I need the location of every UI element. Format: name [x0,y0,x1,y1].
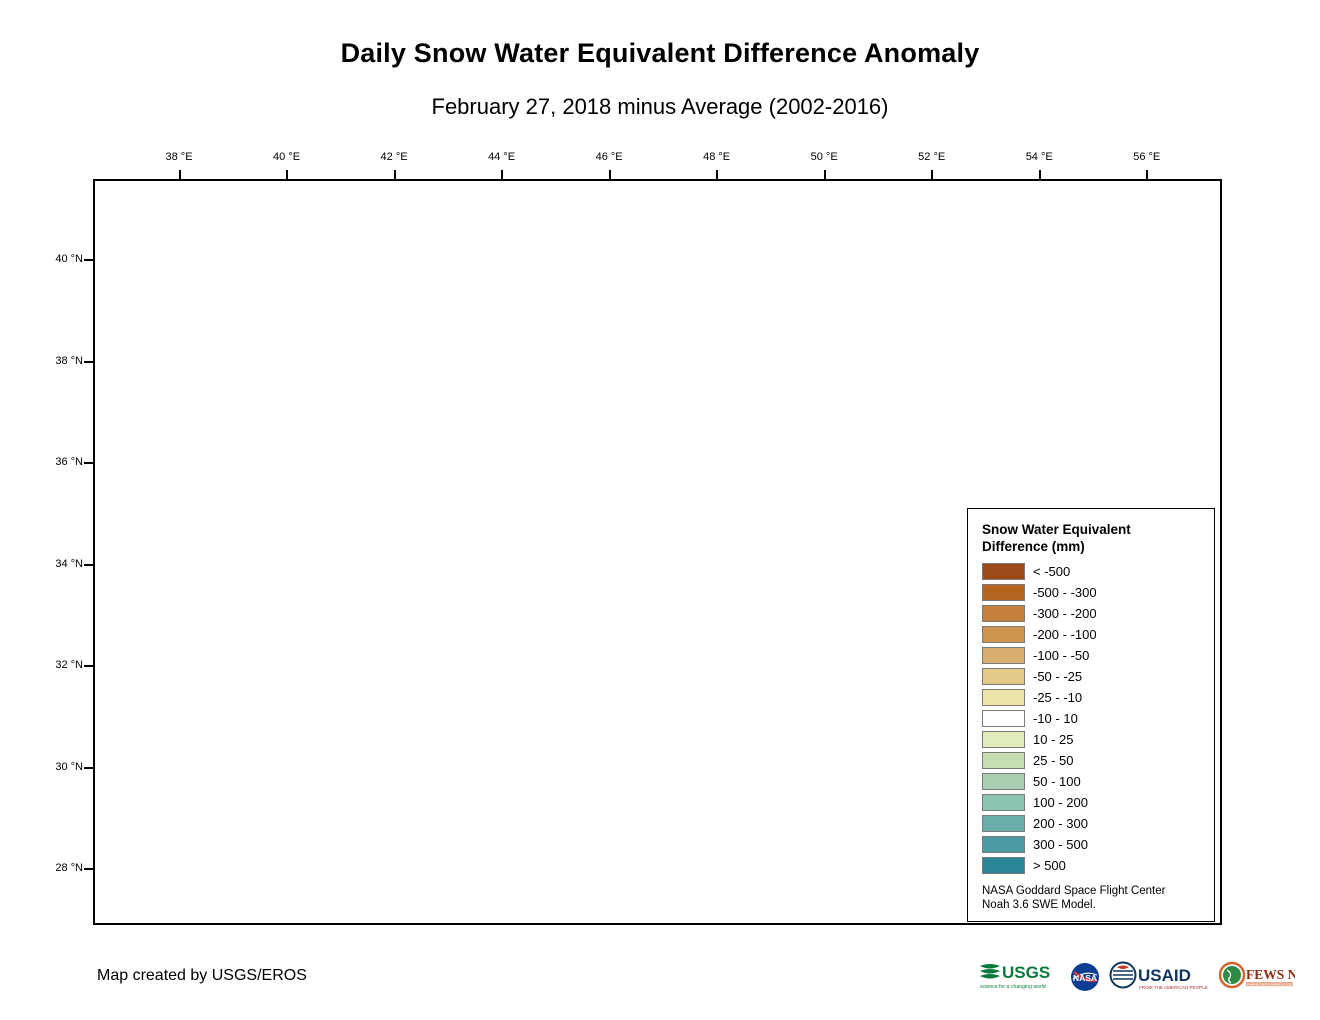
legend-swatch [982,815,1025,832]
y-tick-mark [84,868,93,870]
y-tick-mark [84,361,93,363]
legend-source-line2: Noah 3.6 SWE Model. [982,898,1165,912]
legend-swatch [982,668,1025,685]
nasa-logo: NASA [1069,960,1101,994]
legend-box: Snow Water Equivalent Difference (mm) < … [967,508,1215,922]
y-tick-mark [84,462,93,464]
x-tick-mark [824,170,826,179]
agency-logos: USGS science for a changing world NASA U… [978,957,1295,997]
legend-swatch [982,710,1025,727]
legend-label: 100 - 200 [1033,795,1088,810]
x-tick-label: 56 °E [1129,151,1165,163]
legend-swatch [982,563,1025,580]
x-tick-mark [931,170,933,179]
legend-swatch [982,689,1025,706]
legend-label: -50 - -25 [1033,669,1082,684]
x-tick-label: 48 °E [699,151,735,163]
fewsnet-logo: FEWS NET FAMINE EARLY WARNING SYSTEMS NE… [1219,960,1295,994]
x-tick-mark [716,170,718,179]
legend-swatch [982,605,1025,622]
usaid-logo: USAID FROM THE AMERICAN PEOPLE [1108,960,1212,994]
y-tick-label: 28 °N [39,862,83,874]
y-tick-mark [84,665,93,667]
legend-row: 200 - 300 [982,813,1214,834]
y-tick-label: 36 °N [39,456,83,468]
y-tick-label: 40 °N [39,253,83,265]
x-tick-mark [394,170,396,179]
x-tick-label: 46 °E [591,151,627,163]
svg-text:USAID: USAID [1138,966,1191,985]
legend-row: -500 - -300 [982,582,1214,603]
page-title: Daily Snow Water Equivalent Difference A… [0,38,1320,69]
legend-label: > 500 [1033,858,1066,873]
legend-row: 25 - 50 [982,750,1214,771]
legend-source: NASA Goddard Space Flight Center Noah 3.… [982,884,1165,912]
legend-row: -200 - -100 [982,624,1214,645]
y-tick-mark [84,767,93,769]
x-tick-mark [286,170,288,179]
x-tick-label: 54 °E [1021,151,1057,163]
legend-row: 100 - 200 [982,792,1214,813]
legend-label: -10 - 10 [1033,711,1078,726]
legend-row: -300 - -200 [982,603,1214,624]
x-tick-mark [179,170,181,179]
svg-text:FEWS NET: FEWS NET [1246,967,1295,982]
legend-swatch [982,773,1025,790]
legend-label: -200 - -100 [1033,627,1097,642]
legend-swatch [982,584,1025,601]
legend-swatch [982,626,1025,643]
map-canvas[interactable]: Snow Water Equivalent Difference (mm) < … [93,179,1222,925]
legend-row: 300 - 500 [982,834,1214,855]
x-tick-label: 40 °E [269,151,305,163]
legend-row: > 500 [982,855,1214,876]
legend-swatch [982,647,1025,664]
legend-label: < -500 [1033,564,1070,579]
page-subtitle: February 27, 2018 minus Average (2002-20… [0,94,1320,120]
legend-title-line1: Snow Water Equivalent [982,522,1131,537]
map-credit: Map created by USGS/EROS [97,967,307,985]
x-tick-label: 42 °E [376,151,412,163]
x-tick-mark [609,170,611,179]
usgs-logo: USGS science for a changing world [978,960,1062,994]
svg-text:FROM THE AMERICAN PEOPLE: FROM THE AMERICAN PEOPLE [1139,985,1208,990]
x-tick-label: 52 °E [914,151,950,163]
legend-row: 10 - 25 [982,729,1214,750]
legend-label: 200 - 300 [1033,816,1088,831]
x-tick-mark [1146,170,1148,179]
svg-text:FAMINE EARLY WARNING SYSTEMS N: FAMINE EARLY WARNING SYSTEMS NETWORK [1247,983,1295,987]
legend-label: -300 - -200 [1033,606,1097,621]
legend-swatch [982,857,1025,874]
legend-source-line1: NASA Goddard Space Flight Center [982,884,1165,898]
legend-label: 50 - 100 [1033,774,1081,789]
legend-label: -100 - -50 [1033,648,1089,663]
y-tick-label: 38 °N [39,355,83,367]
legend-row: 50 - 100 [982,771,1214,792]
legend-row: -10 - 10 [982,708,1214,729]
legend-label: -25 - -10 [1033,690,1082,705]
legend-swatch [982,752,1025,769]
legend-label: -500 - -300 [1033,585,1097,600]
legend-row: < -500 [982,561,1214,582]
x-tick-label: 38 °E [161,151,197,163]
legend-swatch [982,836,1025,853]
legend-swatch [982,794,1025,811]
x-tick-label: 50 °E [806,151,842,163]
svg-text:science for a changing world: science for a changing world [980,984,1046,990]
legend-row: -50 - -25 [982,666,1214,687]
legend-label: 300 - 500 [1033,837,1088,852]
svg-text:NASA: NASA [1073,973,1097,983]
legend-label: 25 - 50 [1033,753,1073,768]
svg-text:USGS: USGS [1002,963,1050,982]
legend-row: -25 - -10 [982,687,1214,708]
legend-title: Snow Water Equivalent Difference (mm) [968,509,1214,555]
y-tick-label: 30 °N [39,761,83,773]
legend-swatch [982,731,1025,748]
x-tick-mark [1039,170,1041,179]
y-tick-mark [84,259,93,261]
legend-label: 10 - 25 [1033,732,1073,747]
legend-class-list: < -500-500 - -300-300 - -200-200 - -100-… [982,561,1214,876]
legend-title-line2: Difference (mm) [982,539,1085,554]
y-tick-label: 32 °N [39,659,83,671]
x-tick-label: 44 °E [484,151,520,163]
y-tick-mark [84,564,93,566]
x-tick-mark [501,170,503,179]
legend-row: -100 - -50 [982,645,1214,666]
y-tick-label: 34 °N [39,558,83,570]
